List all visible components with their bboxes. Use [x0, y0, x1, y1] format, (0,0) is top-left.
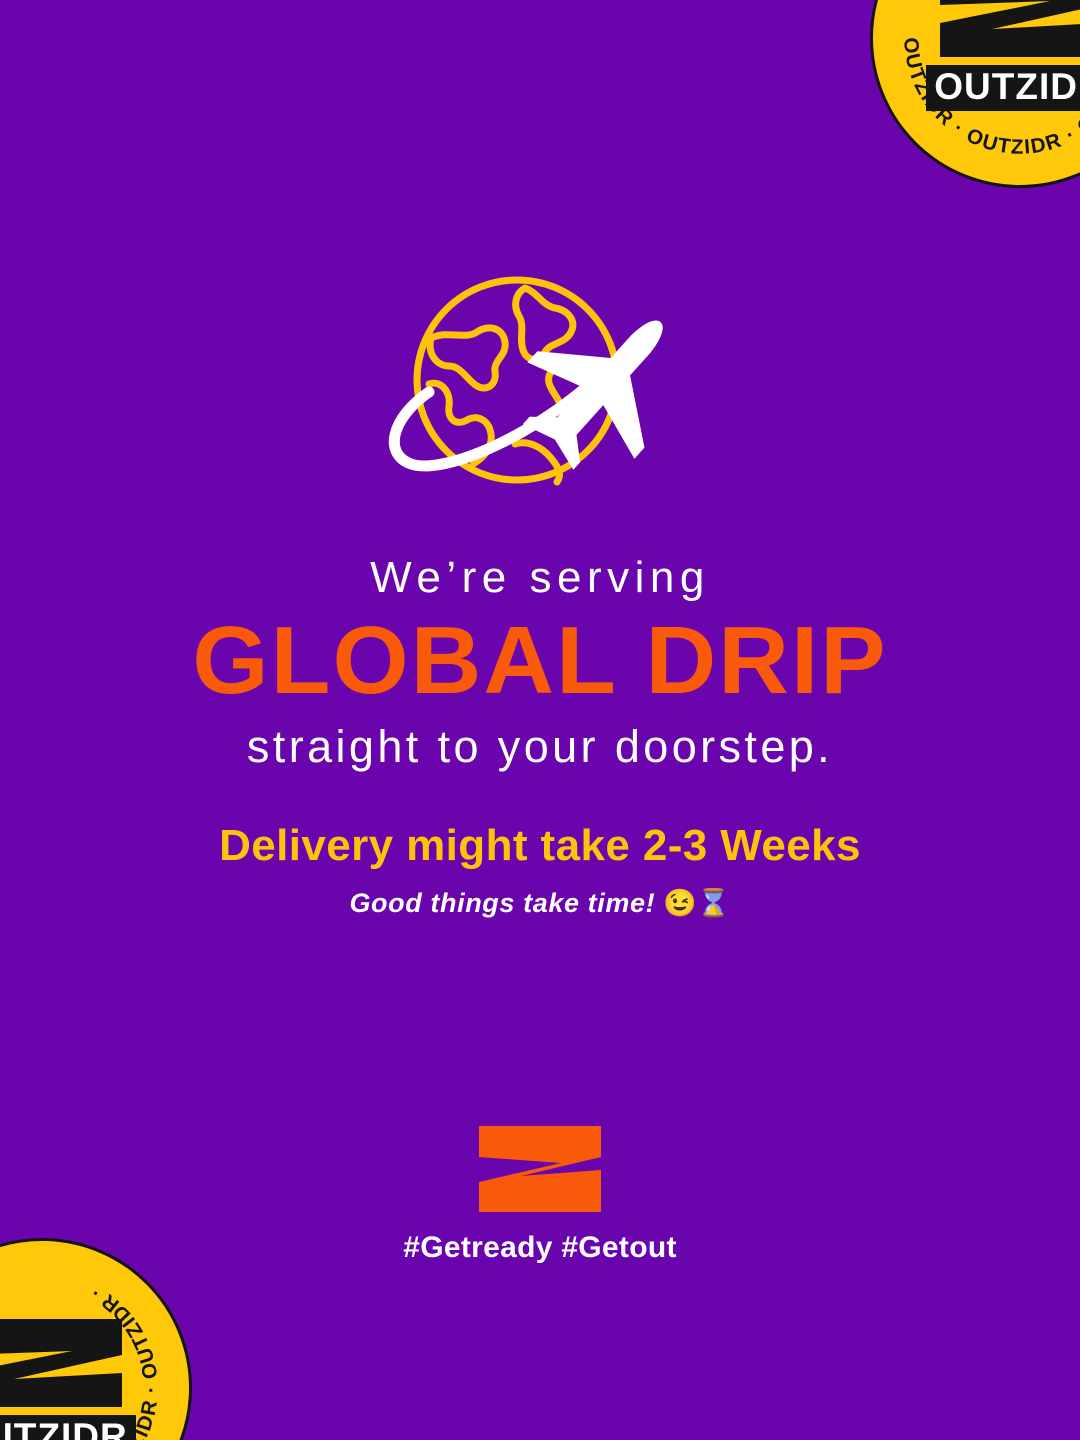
delivery-time-label: Delivery might take 2-3 Weeks [0, 820, 1080, 873]
badge-core-label: OUTZIDR [0, 1415, 136, 1440]
hashtags-label: #Getready #Getout [403, 1230, 677, 1266]
brand-badge-top-right: OUTZIDR · OUTZIDR · OUTZIDR · OUTZIDR · … [870, 0, 1080, 188]
headline-block: We’re serving GLOBAL DRIP straight to yo… [0, 552, 1080, 774]
headline-line-1: We’re serving [0, 552, 1080, 604]
z-logo-icon [0, 1315, 130, 1411]
z-logo-icon [932, 0, 1080, 61]
delivery-subtext-wrap: Good things take time! 😉⌛ [0, 887, 1080, 919]
brand-badge-bottom-left: OUTZIDR · OUTZIDR · OUTZIDR · OUTZIDR · … [0, 1238, 192, 1440]
hero-icon-wrap [0, 268, 1080, 504]
delivery-subtext: Good things take time! [349, 888, 655, 918]
wink-hourglass-emoji: 😉⌛ [663, 888, 730, 918]
globe-airplane-icon [365, 268, 715, 504]
footer-block: #Getready #Getout [0, 1126, 1080, 1266]
promo-poster: OUTZIDR · OUTZIDR · OUTZIDR · OUTZIDR · … [0, 0, 1080, 1440]
z-logo-mark-icon [479, 1126, 601, 1212]
headline-line-2: GLOBAL DRIP [0, 610, 1080, 712]
badge-core-bottom-left: OUTZIDR [0, 1315, 130, 1440]
delivery-block: Delivery might take 2-3 Weeks Good thing… [0, 820, 1080, 919]
badge-core-top-right: OUTZIDR [932, 0, 1080, 111]
badge-core-label: OUTZIDR [926, 65, 1080, 111]
headline-line-3: straight to your doorstep. [0, 720, 1080, 774]
